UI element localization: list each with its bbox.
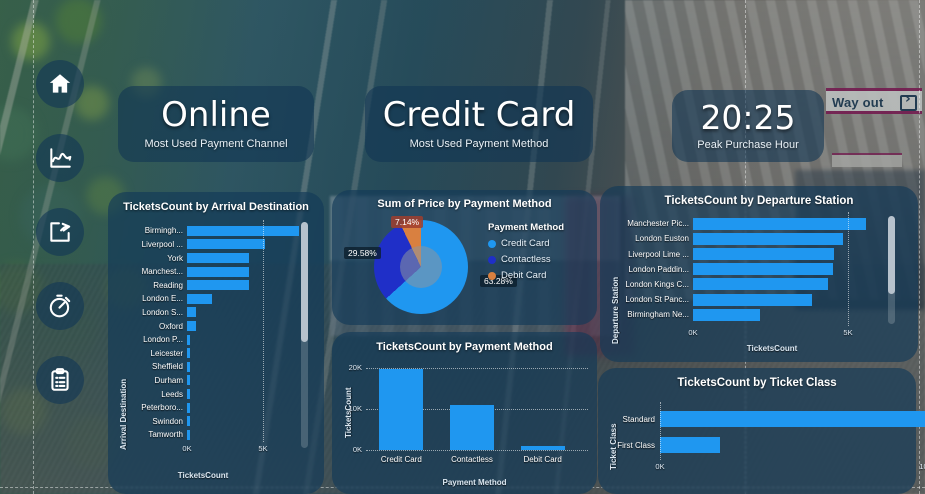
bar[interactable] [187, 335, 190, 345]
legend-item-credit-card[interactable]: Credit Card [488, 238, 564, 249]
vertical-scrollbar[interactable] [301, 222, 308, 448]
sidebar [36, 60, 88, 430]
bar[interactable] [187, 403, 190, 413]
bar-category-label: Tamworth [121, 430, 183, 439]
bar[interactable] [660, 411, 925, 427]
bar-category-label: Peterboro... [121, 403, 183, 412]
bar-category-label: Liverpool Lime ... [605, 250, 689, 259]
bar-category-label: London S... [121, 308, 183, 317]
bar-category-label: London Kings C... [605, 280, 689, 289]
bar[interactable] [187, 430, 190, 440]
donut-label-debit-card: 7.14% [391, 216, 423, 228]
share-icon [47, 219, 73, 245]
x-axis-tick: 10K [912, 462, 925, 471]
bar[interactable] [187, 362, 190, 372]
gridline [366, 450, 588, 451]
bar-category-label: Credit Card [366, 455, 437, 464]
bar[interactable] [187, 239, 265, 249]
bar[interactable] [693, 233, 843, 245]
bar-category-label: Liverpool ... [121, 240, 183, 249]
kpi-value: Credit Card [383, 98, 576, 134]
x-axis-title: Payment Method [362, 478, 587, 487]
donut-ring[interactable] [374, 220, 468, 314]
bar-category-label: Leicester [121, 349, 183, 358]
bar[interactable] [521, 446, 565, 450]
bar[interactable] [187, 253, 249, 263]
bar-category-label: First Class [605, 441, 655, 450]
bar[interactable] [187, 226, 299, 236]
kpi-value: 20:25 [700, 101, 795, 136]
bar-category-label: Birmingham Ne... [605, 310, 689, 319]
gridline [660, 402, 661, 460]
chart-arrival-destination[interactable]: TicketsCount by Arrival Destination Arri… [108, 192, 324, 494]
plot-area: Birmingh...Liverpool ...YorkManchest...R… [108, 192, 324, 494]
legend-swatch [488, 240, 496, 248]
legend-swatch [488, 256, 496, 264]
y-axis-tick: 0K [340, 445, 362, 454]
x-axis-title: TicketsCount [108, 471, 298, 480]
bar[interactable] [660, 437, 720, 453]
bar[interactable] [187, 307, 196, 317]
kpi-caption: Most Used Payment Channel [144, 138, 287, 150]
vertical-scrollbar[interactable] [888, 216, 895, 324]
chart-departure-station[interactable]: TicketsCount by Departure Station Depart… [600, 186, 918, 362]
legend-swatch [488, 272, 496, 280]
kpi-card-payment-channel: Online Most Used Payment Channel [118, 86, 314, 162]
bar[interactable] [187, 267, 249, 277]
x-axis-tick: 0K [679, 328, 707, 337]
bar[interactable] [693, 263, 833, 275]
bar[interactable] [187, 348, 190, 358]
chart-tickets-by-payment-method[interactable]: TicketsCount by Payment Method TicketsCo… [332, 332, 597, 494]
bar[interactable] [693, 309, 760, 321]
x-axis-tick: 5K [249, 444, 277, 453]
sidebar-item-export[interactable] [36, 208, 84, 256]
bar-category-label: London Paddin... [605, 265, 689, 274]
bar[interactable] [187, 389, 190, 399]
bar-category-label: Swindon [121, 417, 183, 426]
bar-category-label: Reading [121, 281, 183, 290]
bar[interactable] [693, 294, 812, 306]
bar-category-label: Standard [605, 415, 655, 424]
bar-category-label: York [121, 254, 183, 263]
bar-category-label: London St Panc... [605, 295, 689, 304]
bar-category-label: Leeds [121, 390, 183, 399]
bar-category-label: London E... [121, 294, 183, 303]
home-icon [47, 71, 73, 97]
legend-item-contactless[interactable]: Contactless [488, 254, 564, 265]
gridline [263, 220, 264, 442]
bar[interactable] [187, 280, 249, 290]
legend-label: Contactless [501, 254, 551, 265]
chart-price-by-payment-method[interactable]: Sum of Price by Payment Method 63.28% 29… [332, 190, 597, 325]
bar[interactable] [187, 375, 190, 385]
stopwatch-icon [47, 293, 73, 319]
bar[interactable] [450, 405, 494, 450]
kpi-value: Online [161, 98, 271, 134]
plot-area: Manchester Pic...London EustonLiverpool … [600, 186, 918, 362]
bar-category-label: Birmingh... [121, 226, 183, 235]
bar[interactable] [187, 416, 190, 426]
y-axis-tick: 20K [340, 363, 362, 372]
chart-title: Sum of Price by Payment Method [332, 198, 597, 210]
bar[interactable] [379, 369, 423, 450]
y-axis-tick: 10K [340, 404, 362, 413]
bar-category-label: Contactless [437, 455, 508, 464]
bar[interactable] [693, 248, 834, 260]
chart-ticket-class[interactable]: TicketsCount by Ticket Class Ticket Clas… [598, 368, 916, 494]
bar[interactable] [187, 294, 212, 304]
legend-item-debit-card[interactable]: Debit Card [488, 270, 564, 281]
kpi-caption: Peak Purchase Hour [697, 139, 799, 151]
gridline [848, 212, 849, 326]
bar[interactable] [187, 321, 196, 331]
bar-category-label: Manchest... [121, 267, 183, 276]
legend: Payment Method Credit Card Contactless D… [488, 222, 564, 281]
x-axis-tick: 0K [646, 462, 674, 471]
bar-category-label: Sheffield [121, 362, 183, 371]
bar-category-label: Manchester Pic... [605, 219, 689, 228]
sidebar-item-performance[interactable] [36, 282, 84, 330]
bar[interactable] [693, 278, 828, 290]
x-axis-tick: 0K [173, 444, 201, 453]
sidebar-item-analytics[interactable] [36, 134, 84, 182]
sidebar-item-home[interactable] [36, 60, 84, 108]
legend-title: Payment Method [488, 222, 564, 233]
bar[interactable] [693, 218, 866, 230]
kpi-card-payment-method: Credit Card Most Used Payment Method [365, 86, 593, 162]
x-axis-tick: 5K [834, 328, 862, 337]
bar-category-label: London P... [121, 335, 183, 344]
legend-label: Debit Card [501, 270, 546, 281]
donut-hole [400, 246, 442, 288]
plot-area: StandardFirst Class0K10K20K30K [598, 368, 916, 494]
donut-label-contactless: 29.58% [344, 247, 381, 259]
kpi-caption: Most Used Payment Method [410, 138, 549, 150]
clipboard-icon [47, 367, 73, 393]
scrollbar-thumb[interactable] [888, 216, 895, 294]
sidebar-item-details[interactable] [36, 356, 84, 404]
x-axis-title: TicketsCount [660, 344, 884, 353]
legend-label: Credit Card [501, 238, 550, 249]
plot-area: 0K10K20KCredit CardContactlessDebit Card [332, 332, 597, 494]
kpi-card-peak-hour: 20:25 Peak Purchase Hour [672, 90, 824, 162]
scrollbar-thumb[interactable] [301, 222, 308, 342]
line-chart-icon [47, 145, 73, 171]
bar-category-label: London Euston [605, 234, 689, 243]
bar-category-label: Debit Card [507, 455, 578, 464]
bar-category-label: Durham [121, 376, 183, 385]
bar-category-label: Oxford [121, 322, 183, 331]
